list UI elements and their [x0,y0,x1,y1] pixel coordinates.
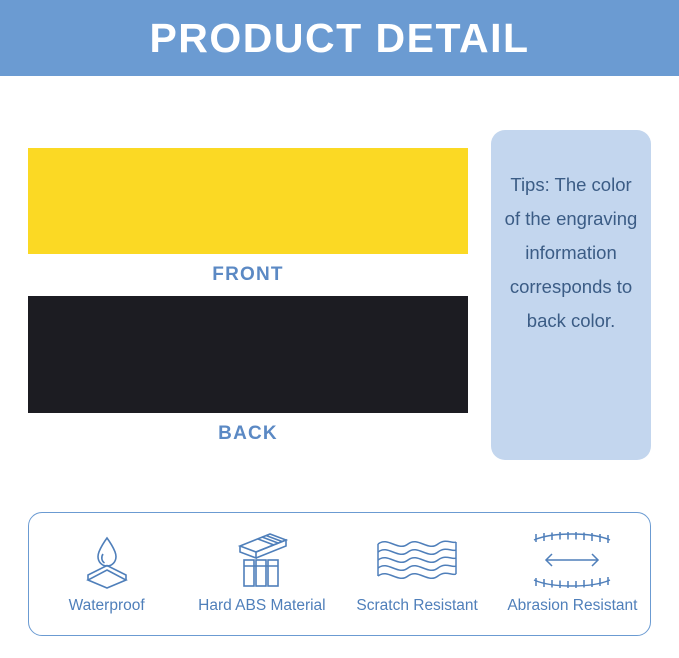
header-banner: PRODUCT DETAIL [0,0,679,76]
product-detail-page: PRODUCT DETAIL FRONT BACK Tips: The colo… [0,0,679,658]
feature-label: Abrasion Resistant [507,597,637,615]
tips-text: Tips: The color of the engraving informa… [503,168,639,338]
tips-callout-box: Tips: The color of the engraving informa… [491,130,651,460]
back-swatch-label: BACK [28,413,468,455]
page-title: PRODUCT DETAIL [149,15,529,62]
color-swatch-section: FRONT BACK [28,148,468,455]
feature-label: Waterproof [69,597,145,615]
feature-item-scratch-resistant: Scratch Resistant [342,529,492,615]
layered-boards-icon [226,529,298,591]
feature-item-waterproof: Waterproof [32,529,182,615]
feature-panel: Waterproof Hard ABS Material [28,512,651,636]
front-swatch-label: FRONT [28,254,468,296]
water-drop-icon [76,529,138,591]
feature-label: Hard ABS Material [198,597,326,615]
back-color-swatch [28,296,468,413]
feature-item-hard-abs-material: Hard ABS Material [187,529,337,615]
feature-item-abrasion-resistant: Abrasion Resistant [497,529,647,615]
wavy-lines-icon [372,529,462,591]
front-color-swatch [28,148,468,254]
feature-label: Scratch Resistant [356,597,477,615]
compression-arrows-icon [524,529,620,591]
